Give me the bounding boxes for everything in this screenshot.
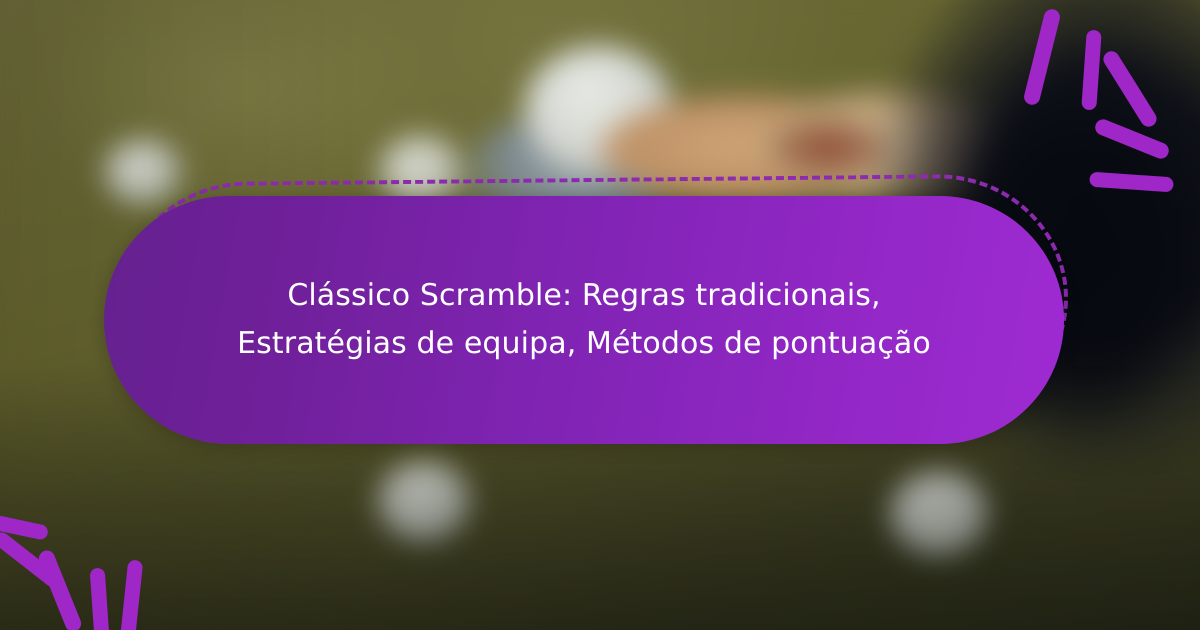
sparkle-ray <box>1081 30 1102 111</box>
sparkle-ray <box>1022 8 1061 107</box>
sparkle-ray <box>90 568 110 630</box>
sparkle-burst-top-right <box>1000 0 1190 170</box>
sparkle-ray <box>120 559 143 630</box>
promo-banner: Clássico Scramble: Regras tradicionais, … <box>0 0 1200 630</box>
sparkle-burst-bottom-left <box>0 460 190 630</box>
title-card: Clássico Scramble: Regras tradicionais, … <box>104 196 1064 444</box>
sparkle-ray <box>36 548 83 630</box>
page-title: Clássico Scramble: Regras tradicionais, … <box>180 272 988 368</box>
sparkle-ray <box>1093 117 1171 161</box>
sparkle-ray <box>1100 48 1159 129</box>
